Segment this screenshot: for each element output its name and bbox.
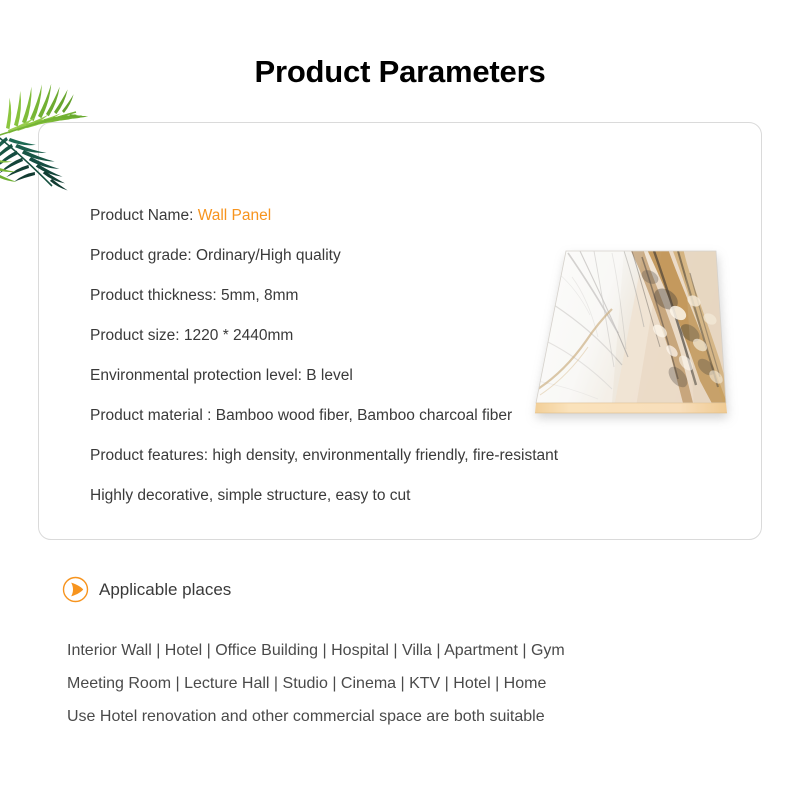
spec-value: 1220 * 2440mm — [184, 327, 293, 344]
applicable-places-title: Applicable places — [99, 580, 231, 600]
spec-row: Product Name: Wall Panel — [90, 196, 730, 236]
list-item: Interior Wall | Hotel | Office Building … — [67, 634, 767, 667]
spec-value: Wall Panel — [198, 207, 272, 224]
spec-label: Environmental protection level: — [90, 367, 306, 384]
spec-label: Product size: — [90, 327, 184, 344]
spec-value: Bamboo wood fiber, Bamboo charcoal fiber — [216, 407, 512, 424]
list-item: Meeting Room | Lecture Hall | Studio | C… — [67, 667, 767, 700]
spec-label: Product grade: — [90, 247, 196, 264]
spec-label: Product Name: — [90, 207, 198, 224]
spec-label: Product thickness: — [90, 287, 221, 304]
spec-value: 5mm, 8mm — [221, 287, 299, 304]
spec-value: Highly decorative, simple structure, eas… — [90, 487, 410, 504]
spec-value: B level — [306, 367, 353, 384]
spec-row: Highly decorative, simple structure, eas… — [90, 476, 730, 516]
product-parameters-card: Product Name: Wall Panel Product grade: … — [38, 122, 762, 540]
arrow-circle-right-icon — [62, 576, 89, 603]
list-item: Use Hotel renovation and other commercia… — [67, 700, 767, 733]
spec-row: Product grade: Ordinary/High quality — [90, 236, 730, 276]
page-title: Product Parameters — [0, 54, 800, 90]
spec-row: Product features: high density, environm… — [90, 436, 730, 476]
spec-row: Environmental protection level: B level — [90, 356, 730, 396]
spec-label: Product features: — [90, 447, 212, 464]
spec-value: Ordinary/High quality — [196, 247, 341, 264]
spec-value: high density, environmentally friendly, … — [212, 447, 558, 464]
spec-label: Product material : — [90, 407, 216, 424]
spec-list: Product Name: Wall Panel Product grade: … — [90, 196, 730, 516]
applicable-places-list: Interior Wall | Hotel | Office Building … — [67, 634, 767, 733]
spec-row: Product material : Bamboo wood fiber, Ba… — [90, 396, 730, 436]
spec-row: Product size: 1220 * 2440mm — [90, 316, 730, 356]
applicable-places-header: Applicable places — [62, 576, 231, 603]
spec-row: Product thickness: 5mm, 8mm — [90, 276, 730, 316]
